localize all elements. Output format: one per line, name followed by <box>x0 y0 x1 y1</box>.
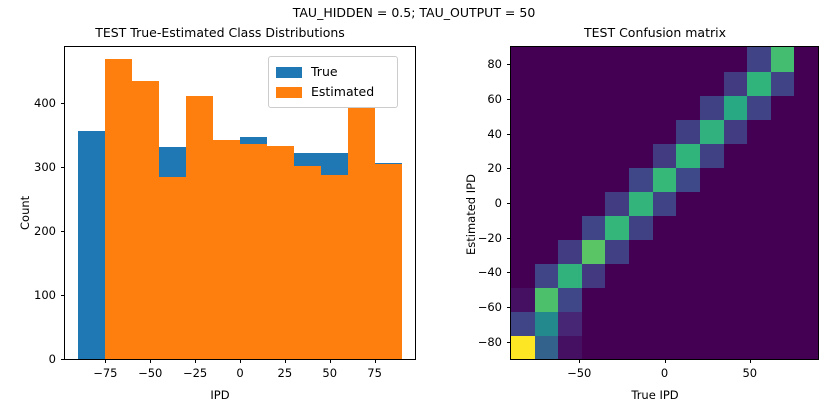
hist-bar-estimated <box>321 175 348 359</box>
confusion-matrix-cell <box>771 335 795 359</box>
confusion-matrix-cell <box>747 239 771 264</box>
confusion-matrix-cell <box>794 215 818 240</box>
legend-label-true: True <box>311 66 338 79</box>
cm-ytick-label: 60 <box>462 92 502 106</box>
confusion-matrix-cell <box>653 311 677 336</box>
confusion-matrix-cell <box>582 143 606 168</box>
hist-ytick-mark <box>61 295 65 296</box>
confusion-matrix-cell <box>629 263 653 288</box>
confusion-matrix-cell <box>629 287 653 312</box>
confusion-matrix-cell <box>535 47 559 72</box>
confusion-matrix-cell <box>558 215 582 240</box>
hist-xtick-label: −25 <box>170 366 220 380</box>
confusion-matrix-cell <box>724 119 748 144</box>
confusion-matrix-cell <box>535 143 559 168</box>
hist-xtick-label: −50 <box>125 366 175 380</box>
hist-ytick-label: 100 <box>16 288 56 302</box>
legend-entry-estimated[interactable]: Estimated <box>276 82 389 102</box>
confusion-matrix-cell <box>700 47 724 72</box>
confusion-matrix-cell <box>605 311 629 336</box>
hist-xtick-label: −75 <box>80 366 130 380</box>
confusion-matrix-cell <box>700 143 724 168</box>
confusion-matrix-cell <box>582 335 606 359</box>
confusion-matrix-cell <box>700 239 724 264</box>
hist-ytick-label: 300 <box>16 160 56 174</box>
confusion-matrix-cell <box>747 71 771 96</box>
confusion-matrix-cell <box>535 95 559 120</box>
confusion-matrix-y-label: Estimated IPD <box>464 174 478 255</box>
confusion-matrix-cell <box>676 167 700 192</box>
confusion-matrix-cell <box>771 95 795 120</box>
hist-bar-estimated <box>213 140 240 359</box>
legend-entry-true[interactable]: True <box>276 62 389 82</box>
confusion-matrix-cell <box>724 95 748 120</box>
confusion-matrix-cell <box>535 119 559 144</box>
confusion-matrix-cell <box>558 335 582 359</box>
confusion-matrix-cell <box>629 71 653 96</box>
confusion-matrix-cell <box>535 311 559 336</box>
hist-bar-estimated <box>348 105 375 359</box>
confusion-matrix-cell <box>794 95 818 120</box>
hist-ytick-mark <box>61 359 65 360</box>
confusion-matrix-cell <box>747 143 771 168</box>
confusion-matrix-cell <box>676 143 700 168</box>
cm-xtick-label: −50 <box>554 366 604 380</box>
cm-xtick-label: 0 <box>640 366 690 380</box>
confusion-matrix-cell <box>558 287 582 312</box>
confusion-matrix-cell <box>771 287 795 312</box>
confusion-matrix-cell <box>605 71 629 96</box>
hist-ytick-label: 0 <box>16 352 56 366</box>
cm-ytick-label: −60 <box>462 300 502 314</box>
confusion-matrix-cell <box>511 191 535 216</box>
confusion-matrix-cell <box>653 215 677 240</box>
confusion-matrix-cell <box>535 335 559 359</box>
confusion-matrix-cell <box>653 119 677 144</box>
legend-swatch-true <box>276 67 302 78</box>
confusion-matrix-cell <box>558 71 582 96</box>
hist-bar-estimated <box>105 59 132 359</box>
confusion-matrix-cell <box>794 263 818 288</box>
confusion-matrix-cell <box>724 263 748 288</box>
confusion-matrix-cell <box>747 95 771 120</box>
cm-spine-right <box>818 46 819 360</box>
confusion-matrix-cell <box>747 167 771 192</box>
confusion-matrix-cell <box>535 215 559 240</box>
confusion-matrix-cell <box>724 239 748 264</box>
cm-ytick-mark <box>507 307 511 308</box>
confusion-matrix-cell <box>605 47 629 72</box>
matplotlib-figure: TAU_HIDDEN = 0.5; TAU_OUTPUT = 50 TEST T… <box>0 0 828 411</box>
confusion-matrix-cell <box>747 119 771 144</box>
confusion-matrix-cell <box>582 239 606 264</box>
confusion-matrix-cell <box>629 335 653 359</box>
confusion-matrix-cell <box>794 239 818 264</box>
confusion-matrix-cell <box>535 167 559 192</box>
cm-ytick-label: −80 <box>462 335 502 349</box>
confusion-matrix-cell <box>747 215 771 240</box>
confusion-matrix-cell <box>558 119 582 144</box>
confusion-matrix-cell <box>771 263 795 288</box>
confusion-matrix-cell <box>676 191 700 216</box>
confusion-matrix-cell <box>605 191 629 216</box>
confusion-matrix-cell <box>676 287 700 312</box>
confusion-matrix-cell <box>676 215 700 240</box>
hist-xtick-label: 25 <box>260 366 310 380</box>
hist-xtick-mark <box>195 359 196 363</box>
hist-xtick-label: 50 <box>305 366 355 380</box>
confusion-matrix-cell <box>629 215 653 240</box>
confusion-matrix-cell <box>794 71 818 96</box>
hist-xtick-label: 0 <box>215 366 265 380</box>
cm-ytick-mark <box>507 203 511 204</box>
confusion-matrix-cell <box>629 119 653 144</box>
hist-bar-estimated <box>132 81 159 359</box>
confusion-matrix-cell <box>535 263 559 288</box>
confusion-matrix-cell <box>700 71 724 96</box>
confusion-matrix-cell <box>558 239 582 264</box>
confusion-matrix-cell <box>582 191 606 216</box>
cm-ytick-label: 40 <box>462 127 502 141</box>
histogram-y-label: Count <box>18 196 32 230</box>
confusion-matrix-cell <box>747 47 771 72</box>
cm-ytick-mark <box>507 168 511 169</box>
hist-ytick-label: 400 <box>16 96 56 110</box>
hist-bar-estimated <box>375 164 402 359</box>
confusion-matrix-cell <box>535 287 559 312</box>
confusion-matrix-cell <box>676 239 700 264</box>
confusion-matrix-cell <box>582 287 606 312</box>
confusion-matrix-cell <box>724 335 748 359</box>
confusion-matrix-cell <box>558 47 582 72</box>
cm-xtick-label: 50 <box>725 366 775 380</box>
histogram-legend[interactable]: True Estimated <box>268 56 398 108</box>
cm-ytick-mark <box>507 99 511 100</box>
confusion-matrix-cell <box>747 311 771 336</box>
hist-bar-estimated <box>294 166 321 359</box>
confusion-matrix-cell <box>511 47 535 72</box>
confusion-matrix-cell <box>700 119 724 144</box>
confusion-matrix-cell <box>653 167 677 192</box>
confusion-matrix-cell <box>700 191 724 216</box>
confusion-matrix-cell <box>582 119 606 144</box>
confusion-matrix-cell <box>676 263 700 288</box>
confusion-matrix-cell <box>794 47 818 72</box>
confusion-matrix-cell <box>676 119 700 144</box>
hist-xtick-mark <box>285 359 286 363</box>
cm-ytick-mark <box>507 238 511 239</box>
confusion-matrix-cell <box>511 119 535 144</box>
cm-xtick-mark <box>665 359 666 363</box>
confusion-matrix-cell <box>653 335 677 359</box>
confusion-matrix-cell <box>629 47 653 72</box>
confusion-matrix-cell <box>605 143 629 168</box>
hist-spine-right <box>415 46 416 360</box>
confusion-matrix-cell <box>747 287 771 312</box>
confusion-matrix-cell <box>724 191 748 216</box>
confusion-matrix-cell <box>582 311 606 336</box>
confusion-matrix-cell <box>794 143 818 168</box>
confusion-matrix-cell <box>511 215 535 240</box>
confusion-matrix-cell <box>605 167 629 192</box>
confusion-matrix-cell <box>747 191 771 216</box>
hist-xtick-mark <box>240 359 241 363</box>
confusion-matrix-cell <box>700 311 724 336</box>
confusion-matrix-cell <box>582 167 606 192</box>
confusion-matrix-cell <box>511 287 535 312</box>
confusion-matrix-cell <box>535 71 559 96</box>
confusion-matrix-cell <box>629 167 653 192</box>
confusion-matrix-cell <box>558 167 582 192</box>
confusion-matrix-cell <box>771 215 795 240</box>
confusion-matrix-cell <box>582 71 606 96</box>
confusion-matrix-cell <box>605 119 629 144</box>
confusion-matrix-cell <box>629 143 653 168</box>
confusion-matrix-cell <box>771 143 795 168</box>
confusion-matrix-cell <box>771 191 795 216</box>
confusion-matrix-cell <box>724 71 748 96</box>
confusion-matrix-cell <box>700 335 724 359</box>
confusion-matrix-cell <box>511 167 535 192</box>
confusion-matrix-cell <box>582 47 606 72</box>
hist-ytick-mark <box>61 231 65 232</box>
confusion-matrix-cell <box>700 167 724 192</box>
confusion-matrix-cell <box>771 119 795 144</box>
confusion-matrix-cell <box>724 287 748 312</box>
confusion-matrix-cell <box>653 191 677 216</box>
confusion-matrix-cell <box>653 287 677 312</box>
confusion-matrix-cell <box>511 71 535 96</box>
confusion-matrix-cell <box>582 263 606 288</box>
confusion-matrix-x-label: True IPD <box>490 388 820 402</box>
confusion-matrix-cell <box>558 143 582 168</box>
confusion-matrix-cell <box>582 215 606 240</box>
confusion-matrix-cell <box>605 239 629 264</box>
cm-ytick-mark <box>507 272 511 273</box>
confusion-matrix-cell <box>511 311 535 336</box>
confusion-matrix-cell <box>771 311 795 336</box>
hist-xtick-mark <box>150 359 151 363</box>
confusion-matrix-cell <box>771 71 795 96</box>
cm-ytick-label: 80 <box>462 57 502 71</box>
confusion-matrix-cell <box>653 143 677 168</box>
confusion-matrix-cell <box>676 47 700 72</box>
confusion-matrix-cell <box>700 263 724 288</box>
confusion-matrix-cell <box>676 311 700 336</box>
legend-label-estimated: Estimated <box>311 86 374 99</box>
confusion-matrix-cell <box>511 143 535 168</box>
confusion-matrix-cell <box>724 143 748 168</box>
cm-ytick-label: −40 <box>462 265 502 279</box>
confusion-matrix-cell <box>771 239 795 264</box>
confusion-matrix-title: TEST Confusion matrix <box>490 25 820 40</box>
confusion-matrix-cell <box>676 71 700 96</box>
hist-ytick-mark <box>61 103 65 104</box>
figure-suptitle: TAU_HIDDEN = 0.5; TAU_OUTPUT = 50 <box>0 5 828 20</box>
confusion-matrix-cell <box>605 263 629 288</box>
confusion-matrix-cell <box>535 191 559 216</box>
confusion-matrix-cell <box>794 167 818 192</box>
confusion-matrix-cell <box>771 167 795 192</box>
confusion-matrix-cell <box>724 167 748 192</box>
confusion-matrix-cell <box>558 191 582 216</box>
confusion-matrix-image <box>511 47 818 359</box>
confusion-matrix-cell <box>676 335 700 359</box>
cm-ytick-mark <box>507 134 511 135</box>
hist-bar-estimated <box>159 177 186 359</box>
confusion-matrix-cell <box>558 311 582 336</box>
confusion-matrix-cell <box>629 95 653 120</box>
confusion-matrix-cell <box>676 95 700 120</box>
confusion-matrix-cell <box>794 287 818 312</box>
confusion-matrix-cell <box>558 95 582 120</box>
confusion-matrix-cell <box>558 263 582 288</box>
confusion-matrix-cell <box>511 95 535 120</box>
confusion-matrix-cell <box>700 287 724 312</box>
confusion-matrix-cell <box>629 191 653 216</box>
confusion-matrix-cell <box>653 239 677 264</box>
confusion-matrix-cell <box>653 95 677 120</box>
histogram-title: TEST True-Estimated Class Distributions <box>0 25 440 40</box>
hist-bar-estimated <box>267 146 294 359</box>
confusion-matrix-cell <box>535 239 559 264</box>
confusion-matrix-cell <box>653 263 677 288</box>
confusion-matrix-cell <box>724 215 748 240</box>
confusion-matrix-cell <box>700 95 724 120</box>
confusion-matrix-cell <box>724 311 748 336</box>
confusion-matrix-cell <box>747 263 771 288</box>
confusion-matrix-cell <box>700 215 724 240</box>
confusion-matrix-cell <box>653 47 677 72</box>
confusion-matrix-cell <box>653 71 677 96</box>
confusion-matrix-cell <box>724 47 748 72</box>
cm-ytick-mark <box>507 64 511 65</box>
legend-swatch-estimated <box>276 87 302 98</box>
hist-xtick-mark <box>105 359 106 363</box>
confusion-matrix-cell <box>511 335 535 359</box>
confusion-matrix-cell <box>794 191 818 216</box>
confusion-matrix-cell <box>629 311 653 336</box>
hist-ytick-mark <box>61 167 65 168</box>
confusion-matrix-cell <box>605 215 629 240</box>
cm-xtick-mark <box>579 359 580 363</box>
confusion-matrix-cell <box>794 119 818 144</box>
confusion-matrix-cell <box>629 239 653 264</box>
hist-bar-estimated <box>240 144 267 359</box>
confusion-matrix-cell <box>605 287 629 312</box>
confusion-matrix-cell <box>511 263 535 288</box>
confusion-matrix-cell <box>771 47 795 72</box>
hist-bar-true <box>78 131 105 359</box>
hist-xtick-mark <box>330 359 331 363</box>
confusion-matrix-cell <box>511 239 535 264</box>
confusion-matrix-axes <box>511 47 818 359</box>
confusion-matrix-cell <box>794 335 818 359</box>
confusion-matrix-cell <box>605 335 629 359</box>
confusion-matrix-cell <box>605 95 629 120</box>
confusion-matrix-cell <box>747 335 771 359</box>
hist-xtick-label: 75 <box>350 366 400 380</box>
hist-xtick-mark <box>375 359 376 363</box>
hist-bar-estimated <box>186 96 213 359</box>
confusion-matrix-cell <box>582 95 606 120</box>
histogram-x-label: IPD <box>0 388 440 402</box>
cm-ytick-mark <box>507 342 511 343</box>
cm-xtick-mark <box>750 359 751 363</box>
confusion-matrix-cell <box>794 311 818 336</box>
